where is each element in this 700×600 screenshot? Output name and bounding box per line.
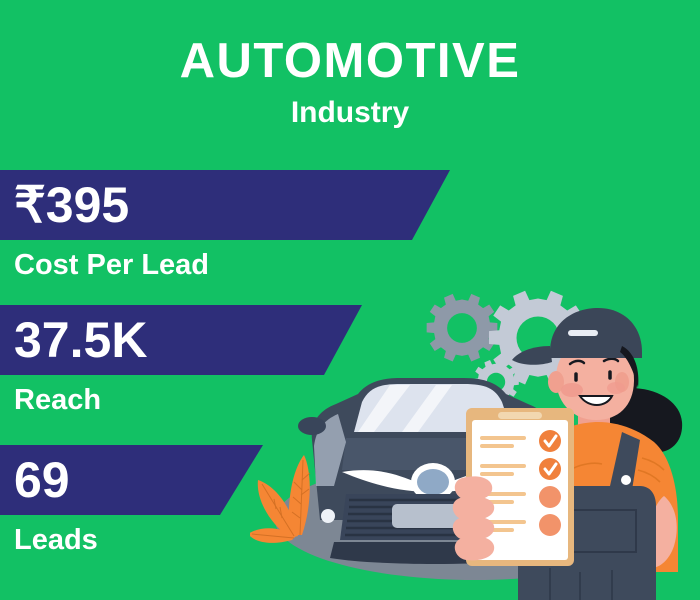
- infographic-canvas: AUTOMOTIVE Industry ₹395 Cost Per Lead 3…: [0, 0, 700, 600]
- gear-medium-dark-icon: [427, 294, 498, 362]
- stat-block-cost-per-lead: ₹395 Cost Per Lead: [0, 170, 450, 280]
- stat-label: Cost Per Lead: [0, 240, 450, 280]
- page-title: AUTOMOTIVE: [0, 36, 700, 87]
- stat-value: 69: [0, 455, 70, 505]
- stat-block-leads: 69 Leads: [0, 445, 263, 555]
- stat-banner: ₹395: [0, 170, 450, 240]
- checklist-item-unchecked: [539, 486, 561, 508]
- checklist-item-checked: [539, 458, 561, 480]
- header: AUTOMOTIVE Industry: [0, 0, 700, 129]
- checklist-item-checked: [539, 430, 561, 452]
- checklist-item-unchecked: [539, 514, 561, 536]
- stat-label: Leads: [0, 515, 263, 555]
- stat-value: ₹395: [0, 180, 129, 230]
- page-subtitle: Industry: [0, 97, 700, 129]
- orange-leaf-plant-icon: [250, 455, 310, 543]
- illustration-mechanic-scene: [250, 290, 700, 600]
- stat-banner: 69: [0, 445, 263, 515]
- stat-value: 37.5K: [0, 315, 147, 365]
